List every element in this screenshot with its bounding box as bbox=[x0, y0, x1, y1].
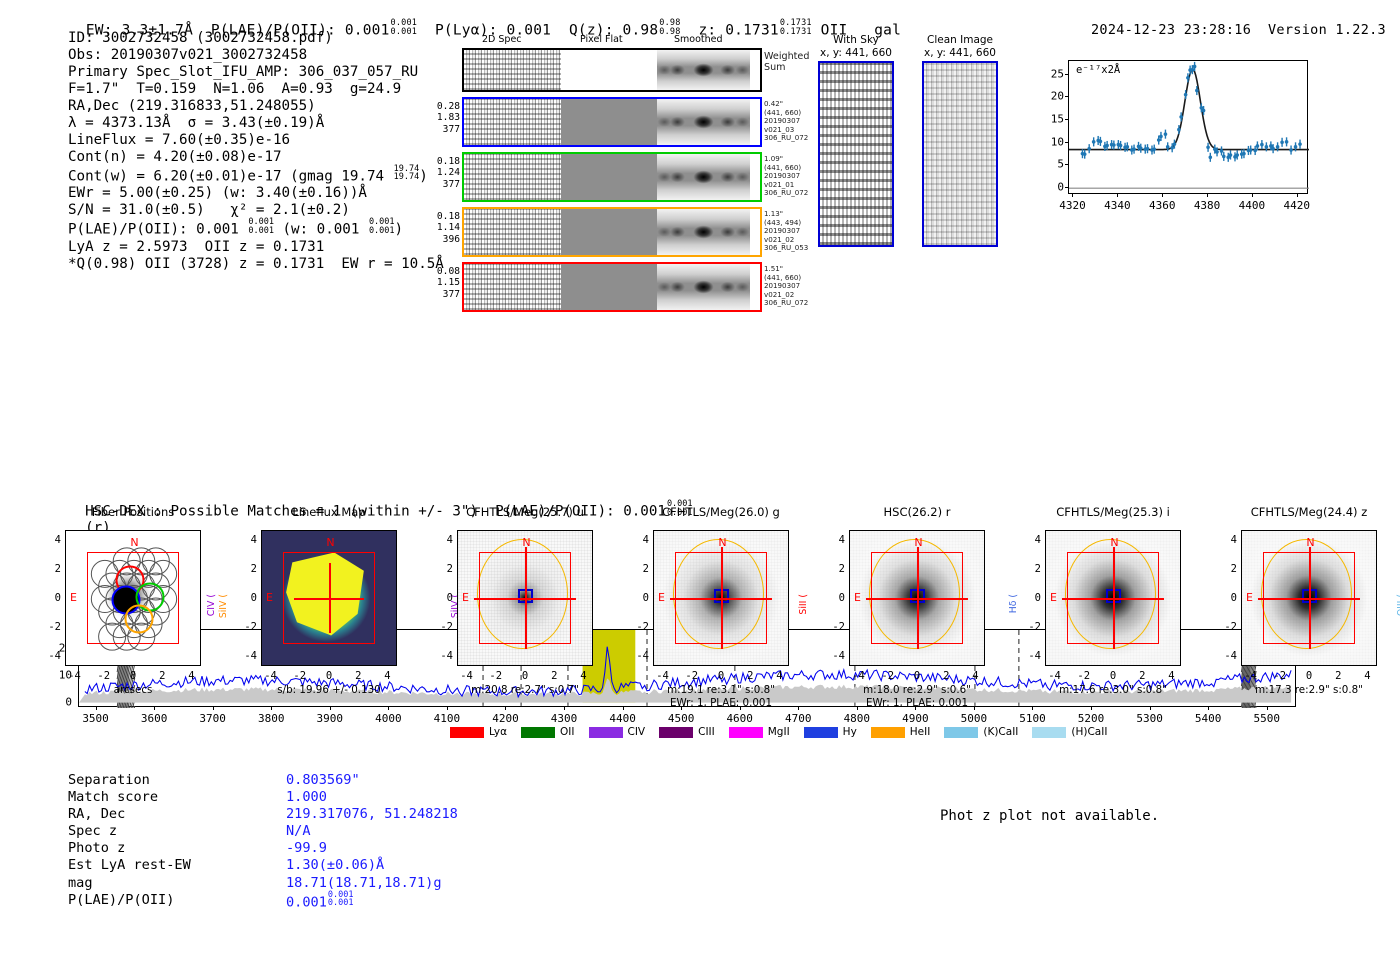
plae-fraction-w: 0.0010.001 bbox=[369, 218, 395, 235]
info-line-13: *Q(0.98) OII (3728) z = 0.1731 EW r = 10… bbox=[68, 256, 444, 273]
cutout-xtick: 2 bbox=[355, 670, 361, 682]
cutout-xtick: 4 bbox=[972, 670, 978, 682]
info-line-8: Cont(w) = 6.20(±0.01)e-17 (gmag 19.74 19… bbox=[68, 166, 444, 186]
line-fit-ytick: 15 bbox=[1038, 113, 1064, 126]
aperture-box bbox=[675, 552, 766, 643]
cutout-xtick: 4 bbox=[1168, 670, 1174, 682]
aperture-box bbox=[479, 552, 570, 643]
header-z-fraction: 0.17310.1731 bbox=[780, 19, 812, 36]
line-fit-ytick: 0 bbox=[1038, 181, 1064, 194]
cutout-ytick: -2 bbox=[235, 621, 257, 633]
cutout-xtick: 0 bbox=[718, 670, 724, 682]
table-plae-fraction: 0.0010.001 bbox=[328, 891, 354, 908]
spec2d-raw-panel bbox=[464, 99, 561, 145]
header-timestamp-version: 2024-12-23 23:28:16 Version 1.22.3 bbox=[1074, 6, 1386, 38]
full-spectrum-panel: e⁻¹⁷x2Å NV (CIV (SiIV (CII (SiIV (OII (O… bbox=[0, 280, 1400, 470]
info-line-9: EWr = 5.00(±0.25) (w: 3.40(±0.16))Å bbox=[68, 185, 444, 202]
north-indicator: N bbox=[522, 536, 530, 549]
cutout-xtick: -2 bbox=[881, 670, 894, 682]
cutout-caption-primary-5: m:17.6 re:3.0" s:0.8" bbox=[1019, 684, 1207, 697]
table-key-3: Spec z bbox=[68, 823, 117, 840]
spec2d-row-metrics: 0.28 1.83 377 bbox=[437, 101, 460, 135]
cutout-xtick: 0 bbox=[130, 670, 136, 682]
with-sky-coords: x, y: 441, 660 bbox=[808, 47, 904, 60]
spec2d-column-titles: 2D Spec Pixel Flat Smoothed bbox=[462, 34, 762, 48]
cutout-grid: Fiber PositionsNE-4-2024420-2-4arcsecsLi… bbox=[0, 505, 1400, 730]
north-indicator: N bbox=[1110, 536, 1118, 549]
cutout-ytick: -4 bbox=[39, 650, 61, 662]
cutout-ytick: -2 bbox=[823, 621, 845, 633]
north-indicator: N bbox=[718, 536, 726, 549]
clean-image-title: Clean Image bbox=[912, 34, 1008, 47]
spec2d-smoothed-panel bbox=[657, 209, 750, 255]
line-fit-xtick: 4420 bbox=[1284, 199, 1311, 212]
cutout-axes-4[interactable]: NE bbox=[849, 530, 985, 666]
cutout-axes-3[interactable]: NE bbox=[653, 530, 789, 666]
cutout-xtick: 4 bbox=[776, 670, 782, 682]
line-fit-plot: e⁻¹⁷x2Å 43204340436043804400442005101520… bbox=[1036, 56, 1308, 226]
spec2d-row-0: Weighted Sum bbox=[462, 48, 762, 92]
cutout-xtick: 2 bbox=[1335, 670, 1341, 682]
table-value-5: 1.30(±0.06)Å bbox=[286, 857, 384, 874]
spec2d-row-provenance: 1.13" (443, 494) 20190307 v021_02 306_RU… bbox=[764, 210, 808, 253]
header-version: Version 1.22.3 bbox=[1268, 22, 1386, 38]
cutout-ytick: -2 bbox=[1019, 621, 1041, 633]
cutout-axes-5[interactable]: NE bbox=[1045, 530, 1181, 666]
cutout-ytick: 2 bbox=[823, 563, 845, 575]
col-title-smoothed: Smoothed bbox=[674, 34, 723, 45]
spec2d-row-2: 0.18 1.24 3771.09" (441, 660) 20190307 v… bbox=[462, 152, 762, 202]
cutout-xtick: 0 bbox=[1110, 670, 1116, 682]
cutout-ytick: 0 bbox=[823, 592, 845, 604]
cutout-axes-2[interactable]: NE bbox=[457, 530, 593, 666]
info-line-11: P(LAE)/P(OII): 0.001 0.0010.001 (w: 0.00… bbox=[68, 219, 444, 239]
cutout-xtick: 4 bbox=[188, 670, 194, 682]
cutout-xtick: 2 bbox=[747, 670, 753, 682]
clean-image-image bbox=[922, 61, 998, 247]
line-fit-ytick: 10 bbox=[1038, 135, 1064, 148]
gmag-fraction: 19.7419.74 bbox=[394, 165, 420, 182]
spec2d-row-3: 0.18 1.14 3961.13" (443, 494) 20190307 v… bbox=[462, 207, 762, 257]
table-key-2: RA, Dec bbox=[68, 806, 125, 823]
north-indicator: N bbox=[1306, 536, 1314, 549]
table-key-0: Separation bbox=[68, 772, 150, 789]
cutout-ytick: 2 bbox=[627, 563, 649, 575]
line-fit-ytick: 25 bbox=[1038, 67, 1064, 80]
spec2d-flat-panel bbox=[561, 209, 657, 255]
cutout-ytick: -4 bbox=[1019, 650, 1041, 662]
table-value-4: -99.9 bbox=[286, 840, 327, 857]
info-line-12: LyA z = 2.5973 OII z = 0.1731 bbox=[68, 239, 444, 256]
cutout-ytick: 2 bbox=[39, 563, 61, 575]
east-indicator: E bbox=[1050, 591, 1057, 604]
cutout-xtick: 2 bbox=[1139, 670, 1145, 682]
info-line-4: RA,Dec (219.316833,51.248055) bbox=[68, 98, 444, 115]
line-fit-units-label: e⁻¹⁷x2Å bbox=[1076, 64, 1120, 76]
east-indicator: E bbox=[854, 591, 861, 604]
cutout-ytick: -4 bbox=[1215, 650, 1237, 662]
table-value-2: 219.317076, 51.248218 bbox=[286, 806, 458, 823]
col-title-2d-spec: 2D Spec bbox=[482, 34, 522, 45]
cutout-ytick: -2 bbox=[39, 621, 61, 633]
cutout-ytick: -2 bbox=[627, 621, 649, 633]
line-fit-xtick: 4400 bbox=[1239, 199, 1266, 212]
spec2d-flat-panel bbox=[561, 154, 657, 200]
cutout-ytick: 4 bbox=[431, 534, 453, 546]
spec2d-row-metrics: 0.18 1.24 377 bbox=[437, 156, 460, 190]
spec2d-row-provenance: 0.42" (441, 660) 20190307 v021_03 306_RU… bbox=[764, 100, 808, 143]
cutout-axes-0[interactable]: NE bbox=[65, 530, 201, 666]
cutout-xtick: -4 bbox=[1244, 670, 1257, 682]
cutout-xtick: -4 bbox=[460, 670, 473, 682]
cutout-ytick: 4 bbox=[1215, 534, 1237, 546]
table-value-6: 18.71(18.71,18.71)g bbox=[286, 875, 442, 892]
east-indicator: E bbox=[658, 591, 665, 604]
aperture-box bbox=[283, 552, 374, 643]
cutout-ytick: 0 bbox=[39, 592, 61, 604]
info-line-1: Obs: 20190307v021_3002732458 bbox=[68, 47, 444, 64]
col-title-pixel-flat: Pixel Flat bbox=[580, 34, 623, 45]
east-indicator: E bbox=[1246, 591, 1253, 604]
cutout-caption-primary-3: m:19.1 re:3.1" s:0.8" bbox=[627, 684, 815, 697]
cutout-title-0: Fiber Positions bbox=[65, 505, 201, 519]
spec2d-raw-panel bbox=[464, 209, 561, 255]
table-key-6: mag bbox=[68, 875, 93, 892]
weighted-sum-label: Weighted Sum bbox=[764, 51, 809, 73]
spec2d-flat-panel bbox=[561, 99, 657, 145]
cutout-caption-primary-6: m:17.3 re:2.9" s:0.8" bbox=[1215, 684, 1400, 697]
cutout-axes-6[interactable]: NE bbox=[1241, 530, 1377, 666]
line-fit-xtick: 4340 bbox=[1104, 199, 1131, 212]
table-value-3: N/A bbox=[286, 823, 311, 840]
cutout-ytick: 0 bbox=[235, 592, 257, 604]
cutout-xtick: -4 bbox=[68, 670, 81, 682]
info-line-5: λ = 4373.13Å σ = 3.43(±0.19)Å bbox=[68, 115, 444, 132]
cutout-axes-1[interactable]: NE bbox=[261, 530, 397, 666]
cutout-ytick: 4 bbox=[627, 534, 649, 546]
cutout-ytick: 4 bbox=[235, 534, 257, 546]
spec2d-row-1: 0.28 1.83 3770.42" (441, 660) 20190307 v… bbox=[462, 97, 762, 147]
spec2d-smoothed-panel bbox=[657, 154, 750, 200]
spec2d-row-metrics: 0.18 1.14 396 bbox=[437, 211, 460, 245]
line-fit-xtick: 4320 bbox=[1059, 199, 1086, 212]
cutout-xtick: -4 bbox=[852, 670, 865, 682]
cutout-xtick: -2 bbox=[293, 670, 306, 682]
cutout-xtick: 2 bbox=[159, 670, 165, 682]
cutout-ytick: 0 bbox=[627, 592, 649, 604]
table-key-7: P(LAE)/P(OII) bbox=[68, 892, 174, 909]
cutout-with-sky: With Sky x, y: 441, 660 bbox=[808, 34, 904, 247]
spec2d-row-provenance: 1.09" (441, 660) 20190307 v021_01 306_RU… bbox=[764, 155, 808, 198]
spec2d-raw-panel bbox=[464, 154, 561, 200]
spec2d-smoothed-panel bbox=[657, 50, 750, 90]
cutout-ytick: 2 bbox=[1215, 563, 1237, 575]
table-value-7: 0.0010.0010.001 bbox=[286, 892, 354, 912]
cutout-ytick: -4 bbox=[627, 650, 649, 662]
cutout-xtick: 0 bbox=[326, 670, 332, 682]
line-fit-xtick: 4360 bbox=[1149, 199, 1176, 212]
spec2d-flat-panel bbox=[561, 50, 657, 90]
aperture-box bbox=[871, 552, 962, 643]
cutout-ytick: 0 bbox=[431, 592, 453, 604]
cutout-xtick: 0 bbox=[522, 670, 528, 682]
cutout-xtick: -2 bbox=[97, 670, 110, 682]
cutout-title-4: HSC(26.2) r bbox=[849, 505, 985, 519]
cutout-title-6: CFHTLS/Meg(24.4) z bbox=[1241, 505, 1377, 519]
cutout-caption-primary-0: arcsecs bbox=[39, 684, 227, 697]
cutout-ytick: 2 bbox=[1019, 563, 1041, 575]
cutout-ytick: -2 bbox=[431, 621, 453, 633]
cutout-caption-secondary-3: EWr: 1, PLAE: 0.001 bbox=[627, 697, 815, 710]
clean-image-coords: x, y: 441, 660 bbox=[912, 47, 1008, 60]
cutout-caption-primary-2: m:20.8 re:2.7" s:0.7" bbox=[431, 684, 619, 697]
cutout-ytick: -4 bbox=[235, 650, 257, 662]
cutout-xtick: 0 bbox=[1306, 670, 1312, 682]
spec2d-montage: 2D Spec Pixel Flat Smoothed Weighted Sum… bbox=[462, 34, 762, 317]
cutout-xtick: 4 bbox=[580, 670, 586, 682]
cutout-title-3: CFHTLS/Meg(26.0) g bbox=[653, 505, 789, 519]
north-indicator: N bbox=[326, 536, 334, 549]
cutout-clean-image: Clean Image x, y: 441, 660 bbox=[912, 34, 1008, 247]
table-value-1: 1.000 bbox=[286, 789, 327, 806]
cutout-xtick: 2 bbox=[943, 670, 949, 682]
line-fit-ytick: 20 bbox=[1038, 90, 1064, 103]
cutout-ytick: 4 bbox=[1019, 534, 1041, 546]
cutout-xtick: -2 bbox=[685, 670, 698, 682]
cutout-xtick: 2 bbox=[551, 670, 557, 682]
info-line-0: ID: 3002732458 (3002732458.pdf) bbox=[68, 30, 444, 47]
cutout-title-5: CFHTLS/Meg(25.3) i bbox=[1045, 505, 1181, 519]
cutout-caption-primary-1: s/b: 19.96 +/- 0.130 bbox=[235, 684, 423, 697]
cutout-xtick: -2 bbox=[1273, 670, 1286, 682]
aperture-box bbox=[87, 552, 178, 643]
cutout-ytick: 0 bbox=[1019, 592, 1041, 604]
table-key-5: Est LyA rest-EW bbox=[68, 857, 191, 874]
cutout-ytick: -2 bbox=[1215, 621, 1237, 633]
cutout-caption-secondary-4: EWr: 1, PLAE: 0.001 bbox=[823, 697, 1011, 710]
cutout-xtick: -2 bbox=[489, 670, 502, 682]
info-line-2: Primary Spec_Slot_IFU_AMP: 306_037_057_R… bbox=[68, 64, 444, 81]
cutout-xtick: -4 bbox=[264, 670, 277, 682]
spec2d-raw-panel bbox=[464, 50, 561, 90]
cutout-ytick: 4 bbox=[39, 534, 61, 546]
east-indicator: E bbox=[266, 591, 273, 604]
cutout-ytick: 0 bbox=[1215, 592, 1237, 604]
table-key-4: Photo z bbox=[68, 840, 125, 857]
cutout-ytick: 2 bbox=[431, 563, 453, 575]
cutout-xtick: -4 bbox=[656, 670, 669, 682]
source-info-block: ID: 3002732458 (3002732458.pdf)Obs: 2019… bbox=[68, 30, 444, 273]
cutout-ytick: -4 bbox=[431, 650, 453, 662]
header-timestamp: 2024-12-23 23:28:16 bbox=[1091, 22, 1251, 38]
cutout-ytick: 4 bbox=[823, 534, 845, 546]
cutout-ytick: 2 bbox=[235, 563, 257, 575]
line-fit-ytick: 5 bbox=[1038, 158, 1064, 171]
cutout-xtick: 4 bbox=[384, 670, 390, 682]
north-indicator: N bbox=[130, 536, 138, 549]
cutout-xtick: -4 bbox=[1048, 670, 1061, 682]
photz-note: Phot z plot not available. bbox=[940, 808, 1159, 824]
aperture-box bbox=[1067, 552, 1158, 643]
cutout-caption-primary-4: m:18.0 re:2.9" s:0.6" bbox=[823, 684, 1011, 697]
line-fit-xtick: 4380 bbox=[1194, 199, 1221, 212]
north-indicator: N bbox=[914, 536, 922, 549]
plae-fraction-n: 0.0010.001 bbox=[248, 218, 274, 235]
info-line-6: LineFlux = 7.60(±0.35)e-16 bbox=[68, 132, 444, 149]
cutout-ytick: -4 bbox=[823, 650, 845, 662]
table-value-0: 0.803569" bbox=[286, 772, 360, 789]
cutout-title-1: Lineflux Map bbox=[261, 505, 397, 519]
spec2d-smoothed-panel bbox=[657, 99, 750, 145]
with-sky-title: With Sky bbox=[808, 34, 904, 47]
cutout-xtick: 4 bbox=[1364, 670, 1370, 682]
cutout-title-2: CFHTLS/Meg(25.7) u bbox=[457, 505, 593, 519]
aperture-box bbox=[1263, 552, 1354, 643]
table-key-1: Match score bbox=[68, 789, 158, 806]
info-line-7: Cont(n) = 4.20(±0.08)e-17 bbox=[68, 149, 444, 166]
cutout-xtick: 0 bbox=[914, 670, 920, 682]
east-indicator: E bbox=[462, 591, 469, 604]
cutout-xtick: -2 bbox=[1077, 670, 1090, 682]
info-line-3: F=1.7" T=0.159 N=1.06 A=0.93 g=24.9 bbox=[68, 81, 444, 98]
with-sky-image bbox=[818, 61, 894, 247]
east-indicator: E bbox=[70, 591, 77, 604]
